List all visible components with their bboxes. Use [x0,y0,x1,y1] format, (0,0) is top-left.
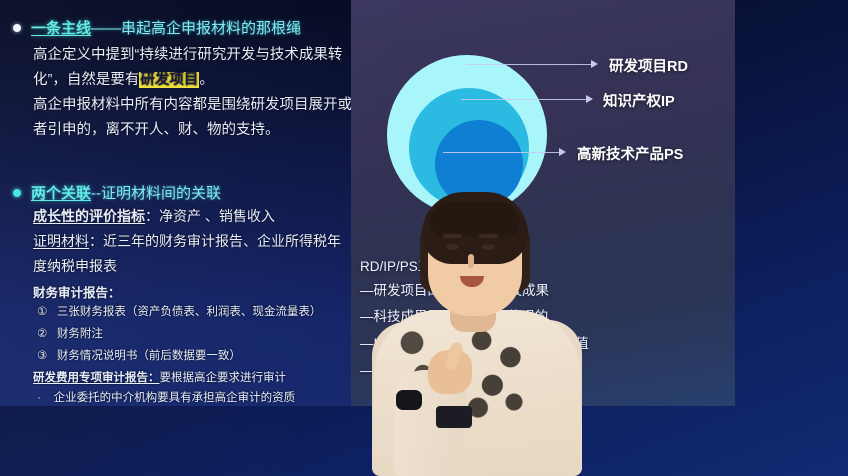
rd-audit-line: 研发费用专项审计报告：要根据高企要求进行审计 [33,369,286,385]
label-ps: 高新技术产品PS [577,143,683,164]
arrow-head-ip [586,95,593,103]
presenter-eye-left [446,244,459,250]
bullet1-line-2: 化”，自然是要有研发项目。 [33,68,214,89]
rd-audit-subbullet-text: 企业委托的中介机构要具有承担高企审计的资质 [54,392,296,404]
bullet1-line2-highlight: 研发项目 [139,72,199,88]
bullet-marker-2 [13,189,21,197]
bullet2-heading-rest: --证明材料间的关联 [91,185,221,202]
bullet-marker-1 [13,24,21,32]
bullet1-heading-highlight: 一条主线 [31,20,91,37]
bullet1-line-4: 者引申的，离不开人、财、物的支持。 [33,118,280,139]
proof-material-label: 证明材料 [33,233,89,249]
proof-material-rest: ：近三年的财务审计报告、企业所得税年 [89,233,341,249]
growth-indicator-label: 成长性的评价指标 [33,208,145,224]
label-ip: 知识产权IP [603,90,675,111]
bullet1-line-3: 高企申报材料中所有内容都是围绕研发项目展开或 [33,93,351,114]
bullet2-heading-highlight: 两个关联 [31,185,91,202]
audit-item-1: ① 三张财务报表（资产负债表、利润表、现金流量表） [37,303,321,319]
proof-material-line: 证明材料：近三年的财务审计报告、企业所得税年 [33,231,341,251]
presenter-eye-right [482,244,495,250]
left-slide-panel: 一条主线——串起高企申报材料的那根绳 高企定义中提到“持续进行研究开发与技术成果… [0,0,351,406]
proof-material-continuation: 度纳税申报表 [33,256,117,276]
label-rd: 研发项目RD [609,55,688,76]
presenter-brow-left [443,234,462,238]
presenter-microphone [436,406,472,428]
presenter-brow-right [479,234,498,238]
presenter-figure [372,192,582,476]
bullet1-line-1: 高企定义中提到“持续进行研究开发与技术成果转 [33,43,342,64]
bullet1-line2-a: 化”，自然是要有 [33,72,139,88]
bullet1-line2-c: 。 [199,72,214,88]
presenter-fringe [430,202,520,236]
leader-line-rd [466,64,591,65]
video-frame: 一条主线——串起高企申报材料的那根绳 高企定义中提到“持续进行研究开发与技术成果… [0,0,848,476]
audit-item-3-text: 财务情况说明书（前后数据要一致） [57,350,241,362]
growth-indicator-rest: ：净资产 、销售收入 [145,208,275,224]
bullet1-heading-rest: ——串起高企申报材料的那根绳 [91,20,301,37]
rd-audit-title: 研发费用专项审计报告： [33,372,160,384]
audit-item-2: ② 财务附注 [37,325,103,341]
audit-item-3-num: ③ [37,350,47,362]
audit-item-3: ③ 财务情况说明书（前后数据要一致） [37,347,241,363]
audit-item-1-text: 三张财务报表（资产负债表、利润表、现金流量表） [57,306,322,318]
audit-item-2-num: ② [37,328,47,340]
leader-line-ip [461,99,586,100]
presenter-nose [468,254,474,268]
rd-audit-subbullet-marker: · [37,392,41,404]
bullet1-heading: 一条主线——串起高企申报材料的那根绳 [31,17,301,38]
audit-item-2-text: 财务附注 [57,328,103,340]
rd-audit-subbullet: · 企业委托的中介机构要具有承担高企审计的资质 [37,389,295,405]
growth-indicator-line: 成长性的评价指标：净资产 、销售收入 [33,206,275,226]
audit-item-1-num: ① [37,306,47,318]
bullet2-heading: 两个关联--证明材料间的关联 [31,182,221,203]
rd-audit-rest: 要根据高企要求进行审计 [160,372,287,384]
arrow-head-ps [559,148,566,156]
leader-line-ps [443,152,559,153]
presenter-watch [396,390,422,410]
arrow-head-rd [591,60,598,68]
audit-report-title: 财务审计报告： [33,282,121,301]
